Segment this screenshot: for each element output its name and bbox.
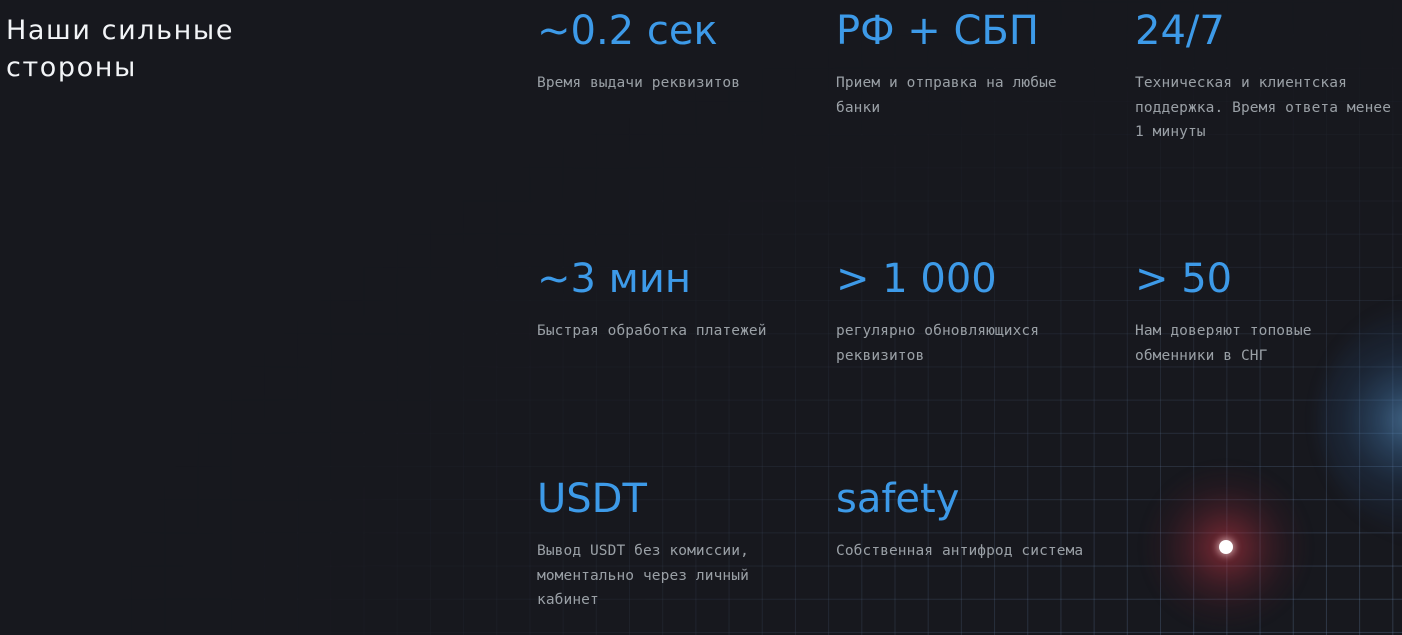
stat-card-processing: ~3 мин Быстрая обработка платежей bbox=[537, 220, 836, 440]
stats-grid: ~0.2 сек Время выдачи реквизитов РФ + СБ… bbox=[537, 0, 1402, 613]
stat-card-speed: ~0.2 сек Время выдачи реквизитов bbox=[537, 0, 836, 220]
stat-description: Вывод USDT без комиссии, моментально чер… bbox=[537, 522, 809, 613]
stat-card-requisites: > 1 000 регулярно обновляющихся реквизит… bbox=[836, 220, 1135, 440]
stat-value: safety bbox=[836, 440, 1117, 522]
stat-value: ~3 мин bbox=[537, 220, 818, 302]
stat-value: 24/7 bbox=[1135, 0, 1399, 54]
stat-description: Техническая и клиентская поддержка. Врем… bbox=[1135, 54, 1399, 145]
strengths-section: Наши сильные стороны ~0.2 сек Время выда… bbox=[0, 0, 1402, 635]
stat-description: Прием и отправка на любые банки bbox=[836, 54, 1108, 120]
stat-card-usdt: USDT Вывод USDT без комиссии, моментальн… bbox=[537, 440, 836, 613]
stat-card-support: 24/7 Техническая и клиентская поддержка.… bbox=[1135, 0, 1402, 220]
stat-card-banks: РФ + СБП Прием и отправка на любые банки bbox=[836, 0, 1135, 220]
page-title: Наши сильные стороны bbox=[6, 12, 476, 86]
stat-description: Быстрая обработка платежей bbox=[537, 302, 809, 344]
stat-description: регулярно обновляющихся реквизитов bbox=[836, 302, 1108, 368]
stat-value: > 1 000 bbox=[836, 220, 1117, 302]
stat-card-safety: safety Собственная антифрод система bbox=[836, 440, 1135, 613]
stat-description: Собственная антифрод система bbox=[836, 522, 1108, 564]
stat-card-empty bbox=[1135, 440, 1402, 613]
stat-value: USDT bbox=[537, 440, 818, 522]
stat-value: РФ + СБП bbox=[836, 0, 1117, 54]
stat-value: ~0.2 сек bbox=[537, 0, 818, 54]
stat-description: Нам доверяют топовые обменники в СНГ bbox=[1135, 302, 1399, 368]
stat-card-partners: > 50 Нам доверяют топовые обменники в СН… bbox=[1135, 220, 1402, 440]
stat-description: Время выдачи реквизитов bbox=[537, 54, 809, 96]
stat-value: > 50 bbox=[1135, 220, 1399, 302]
